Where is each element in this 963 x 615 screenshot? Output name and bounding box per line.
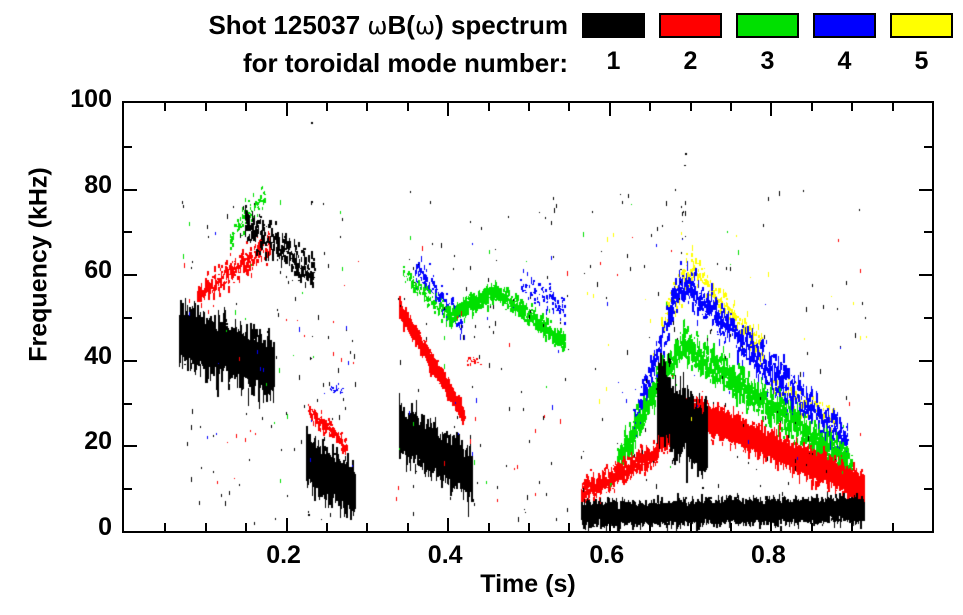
legend-swatch-4 bbox=[813, 13, 876, 38]
x-tick-top bbox=[447, 103, 449, 116]
y-tick-left bbox=[124, 146, 132, 148]
x-tick-bottom bbox=[730, 523, 732, 531]
x-tick-bottom bbox=[851, 523, 853, 531]
y-axis-title: Frequency (kHz) bbox=[25, 65, 54, 465]
legend-label-4: 4 bbox=[813, 47, 876, 76]
legend-swatch-1 bbox=[582, 13, 645, 38]
y-tick-left bbox=[124, 360, 137, 362]
x-axis-title: Time (s) bbox=[122, 570, 934, 599]
x-tick-bottom bbox=[205, 523, 207, 531]
x-tick-top bbox=[407, 103, 409, 111]
x-tick-label: 0.8 bbox=[723, 541, 813, 570]
x-tick-bottom bbox=[892, 523, 894, 531]
x-tick-top bbox=[568, 103, 570, 111]
figure-root: Shot 125037 ωB(ω) spectrum for toroidal … bbox=[0, 0, 963, 615]
y-tick-left bbox=[124, 403, 132, 405]
x-tick-bottom bbox=[690, 523, 692, 531]
x-tick-bottom bbox=[326, 523, 328, 531]
y-tick-right bbox=[919, 360, 932, 362]
x-tick-top bbox=[326, 103, 328, 111]
y-tick-left bbox=[124, 231, 132, 233]
y-tick-right bbox=[919, 274, 932, 276]
figure-title: Shot 125037 ωB(ω) spectrum for toroidal … bbox=[0, 6, 568, 82]
legend-label-3: 3 bbox=[736, 47, 799, 76]
x-tick-bottom bbox=[649, 523, 651, 531]
x-tick-top bbox=[690, 103, 692, 111]
y-tick-right bbox=[919, 445, 932, 447]
legend-label-1: 1 bbox=[582, 47, 645, 76]
x-tick-top bbox=[286, 103, 288, 116]
legend-swatch-2 bbox=[659, 13, 722, 38]
y-tick-right bbox=[924, 231, 932, 233]
y-tick-left bbox=[124, 445, 137, 447]
x-tick-bottom bbox=[770, 518, 772, 531]
legend-item-4[interactable]: 4 bbox=[813, 13, 876, 76]
x-tick-top bbox=[205, 103, 207, 111]
legend-swatch-3 bbox=[736, 13, 799, 38]
legend-swatch-5 bbox=[890, 13, 953, 38]
x-tick-label: 0.2 bbox=[239, 541, 329, 570]
x-tick-bottom bbox=[366, 523, 368, 531]
x-tick-bottom bbox=[568, 523, 570, 531]
y-tick-left bbox=[124, 317, 132, 319]
omega-symbol-2: ω bbox=[415, 12, 435, 40]
x-tick-bottom bbox=[407, 523, 409, 531]
x-tick-label: 0.6 bbox=[562, 541, 652, 570]
x-tick-bottom bbox=[164, 523, 166, 531]
plot-area bbox=[122, 101, 934, 533]
x-tick-top bbox=[488, 103, 490, 111]
x-tick-top bbox=[366, 103, 368, 111]
x-tick-bottom bbox=[488, 523, 490, 531]
x-tick-bottom bbox=[528, 523, 530, 531]
x-tick-top bbox=[770, 103, 772, 116]
legend-item-5[interactable]: 5 bbox=[890, 13, 953, 76]
x-tick-top bbox=[609, 103, 611, 116]
legend-item-2[interactable]: 2 bbox=[659, 13, 722, 76]
legend: 1 2 3 4 5 bbox=[582, 13, 952, 89]
x-tick-bottom bbox=[811, 523, 813, 531]
omega-symbol-1: ω bbox=[367, 12, 387, 40]
legend-item-3[interactable]: 3 bbox=[736, 13, 799, 76]
y-tick-right bbox=[924, 403, 932, 405]
x-tick-bottom bbox=[609, 518, 611, 531]
legend-item-1[interactable]: 1 bbox=[582, 13, 645, 76]
x-tick-top bbox=[851, 103, 853, 111]
y-tick-left bbox=[124, 488, 132, 490]
x-tick-label: 0.4 bbox=[400, 541, 490, 570]
x-tick-bottom bbox=[286, 518, 288, 531]
y-tick-left bbox=[124, 274, 137, 276]
x-tick-top bbox=[245, 103, 247, 111]
title-line-1: Shot 125037 ωB(ω) spectrum bbox=[0, 6, 568, 44]
y-tick-label: 0 bbox=[26, 513, 112, 542]
y-tick-right bbox=[919, 189, 932, 191]
y-tick-right bbox=[924, 317, 932, 319]
x-tick-top bbox=[892, 103, 894, 111]
y-tick-right bbox=[924, 146, 932, 148]
spectrogram-canvas-holder bbox=[124, 103, 932, 531]
x-tick-top bbox=[811, 103, 813, 111]
x-tick-top bbox=[649, 103, 651, 111]
x-tick-top bbox=[164, 103, 166, 111]
title-line-2: for toroidal mode number: bbox=[0, 44, 568, 82]
y-tick-right bbox=[924, 488, 932, 490]
legend-label-5: 5 bbox=[890, 47, 953, 76]
spectrogram-canvas bbox=[124, 103, 932, 531]
x-tick-top bbox=[730, 103, 732, 111]
y-tick-left bbox=[124, 189, 137, 191]
x-tick-bottom bbox=[447, 518, 449, 531]
legend-label-2: 2 bbox=[659, 47, 722, 76]
x-tick-top bbox=[528, 103, 530, 111]
x-tick-bottom bbox=[245, 523, 247, 531]
